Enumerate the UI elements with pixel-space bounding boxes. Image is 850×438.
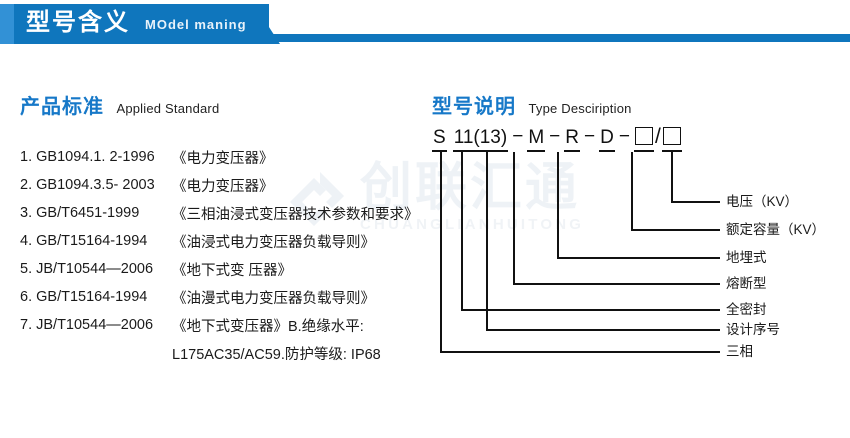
leader-label-fuse-type: 熔断型 (726, 276, 767, 292)
leader-line-2 (632, 152, 720, 230)
leader-label-design-serial: 设计序号 (726, 322, 780, 338)
leader-line-1 (672, 152, 720, 202)
leader-label-buried-type: 地埋式 (726, 250, 767, 266)
leader-lines (0, 0, 850, 438)
leader-label-fully-sealed: 全密封 (726, 302, 767, 318)
leader-line-4 (514, 152, 720, 284)
leader-label-voltage: 电压（KV） (726, 194, 798, 210)
leader-label-three-phase: 三相 (726, 344, 753, 360)
leader-line-7 (441, 152, 720, 352)
leader-label-rated-capacity: 额定容量（KV） (726, 222, 825, 238)
leader-line-3 (558, 152, 720, 258)
leader-line-6 (487, 152, 720, 330)
